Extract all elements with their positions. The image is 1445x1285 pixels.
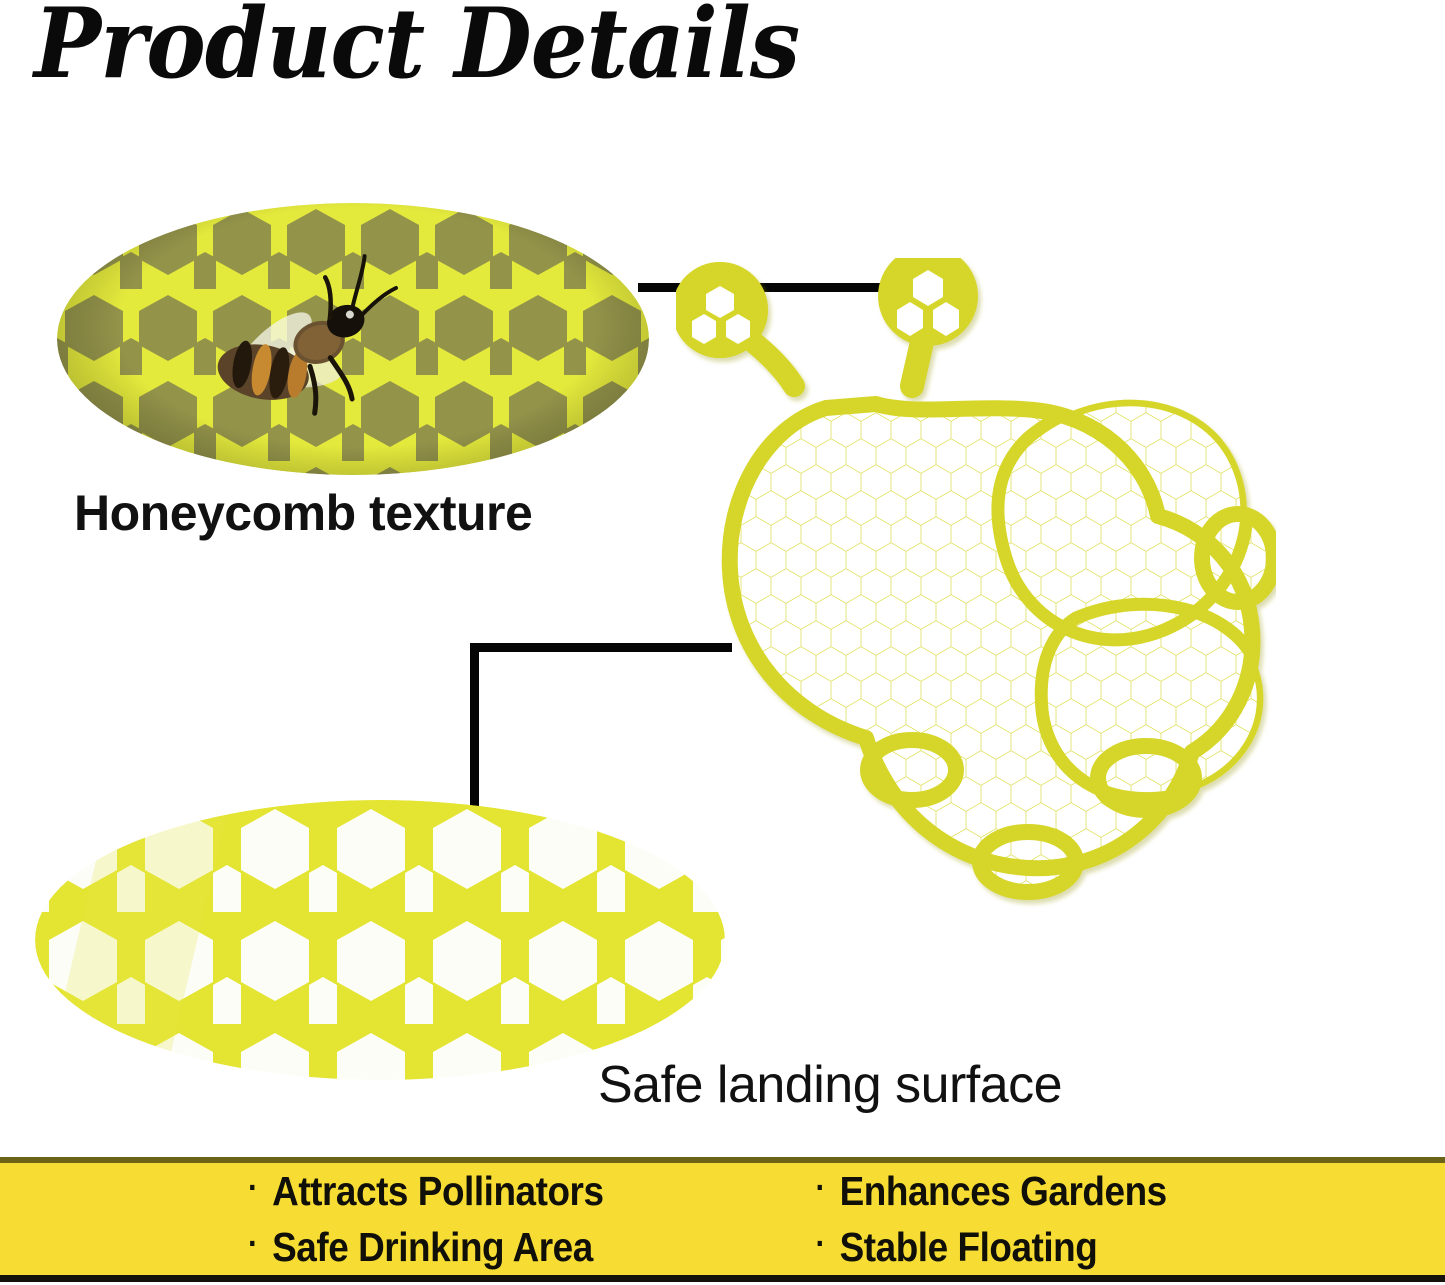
feature-item-enhances-gardens: · Enhances Gardens xyxy=(793,1168,1380,1215)
feature-banner: · Attracts Pollinators · Enhances Garden… xyxy=(0,1157,1445,1282)
bullet-icon: · xyxy=(248,1171,258,1205)
feature-label: Enhances Gardens xyxy=(840,1168,1167,1215)
feature-item-stable-floating: · Stable Floating xyxy=(793,1224,1380,1271)
honeycomb-texture-label: Honeycomb texture xyxy=(74,484,532,542)
honeycomb-texture-photo xyxy=(57,203,649,475)
infographic-canvas: Product Details xyxy=(0,0,1445,1285)
callout-connector-bottom-vertical xyxy=(470,643,479,815)
bullet-icon: · xyxy=(816,1171,826,1205)
bullet-icon: · xyxy=(248,1227,258,1261)
page-title: Product Details xyxy=(34,0,799,92)
bee-honeycomb-perforations xyxy=(676,309,1276,918)
safe-landing-surface-label: Safe landing surface xyxy=(598,1055,1062,1115)
safe-landing-surface-photo xyxy=(35,800,725,1080)
bullet-icon: · xyxy=(816,1227,826,1261)
feature-item-safe-drinking-area: · Safe Drinking Area xyxy=(248,1224,739,1271)
honeycomb-mesh-svg xyxy=(35,800,725,1080)
feature-label: Safe Drinking Area xyxy=(272,1224,593,1271)
bee-antenna-left xyxy=(676,262,794,386)
feature-label: Stable Floating xyxy=(840,1224,1098,1271)
bee-product-svg xyxy=(676,258,1276,918)
honeycomb-photo-svg xyxy=(57,203,649,475)
bee-antenna-right xyxy=(878,258,978,386)
bee-shaped-product xyxy=(676,258,1276,918)
feature-item-attracts-pollinators: · Attracts Pollinators xyxy=(248,1168,739,1215)
feature-label: Attracts Pollinators xyxy=(272,1168,603,1215)
